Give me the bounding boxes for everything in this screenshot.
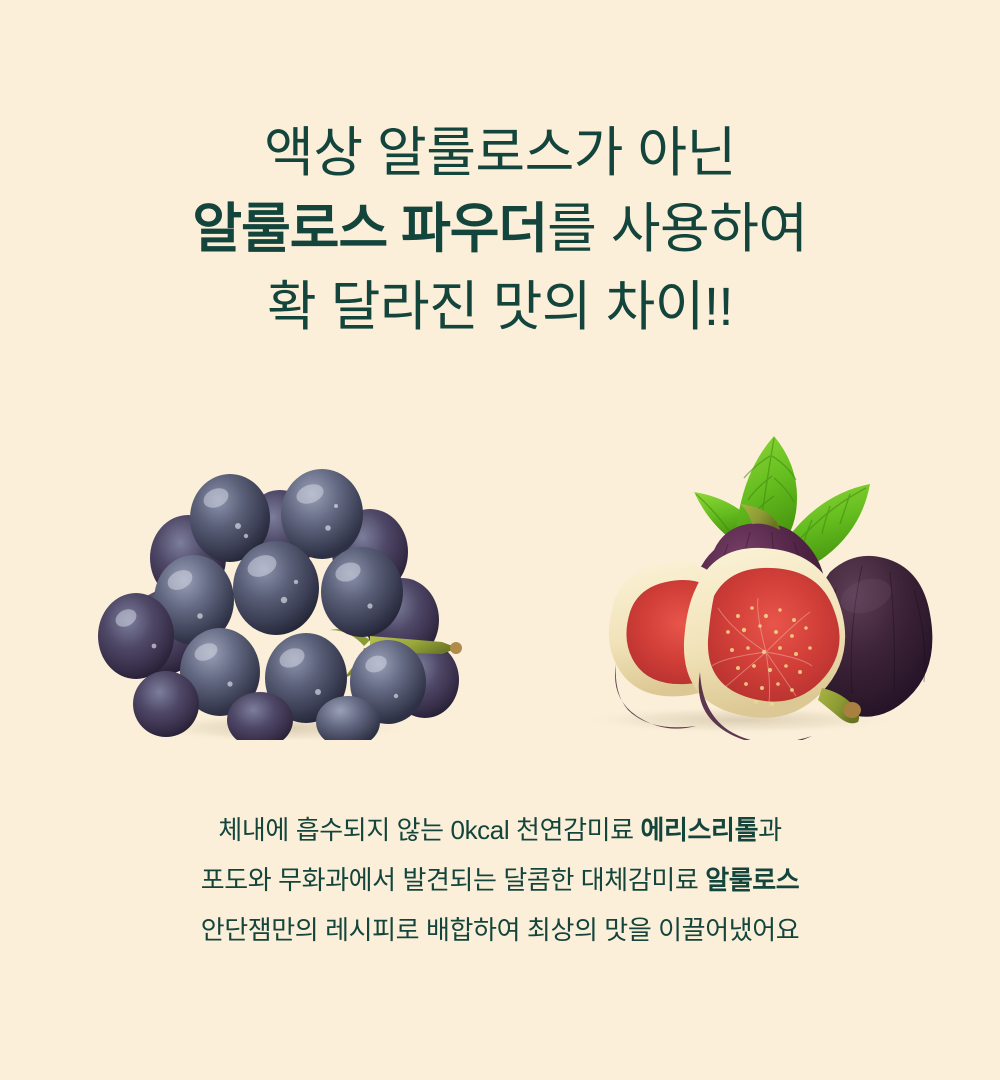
description-line-1: 체내에 흡수되지 않는 0kcal 천연감미료 에리스리톨과 xyxy=(0,806,1000,856)
promo-page: 액상 알룰로스가 아닌 알룰로스 파우더를 사용하여 확 달라진 맛의 차이!! xyxy=(0,0,1000,1080)
headline-line-2-emphasis: 알룰로스 파우더 xyxy=(192,199,547,259)
description-line-1-emphasis: 에리스리톨 xyxy=(640,815,758,845)
fig-fruit-image xyxy=(500,420,960,740)
description-line-3: 안단잼만의 레시피로 배합하여 최상의 맛을 이끌어냈어요 xyxy=(0,906,1000,956)
headline-block: 액상 알룰로스가 아닌 알룰로스 파우더를 사용하여 확 달라진 맛의 차이!! xyxy=(0,118,1000,343)
headline-line-2-rest: 를 사용하여 xyxy=(547,199,807,259)
description-line-1-a: 체내에 흡수되지 않는 0kcal 천연감미료 xyxy=(218,815,640,845)
description-line-1-b: 과 xyxy=(758,815,782,845)
fig-fruit-icon xyxy=(500,420,960,740)
headline-line-1: 액상 알룰로스가 아닌 xyxy=(0,118,1000,188)
grape-cluster-icon xyxy=(70,440,490,740)
description-line-2-a: 포도와 무화과에서 발견되는 달콤한 대체감미료 xyxy=(201,865,706,895)
headline-line-2: 알룰로스 파우더를 사용하여 xyxy=(0,194,1000,264)
description-block: 체내에 흡수되지 않는 0kcal 천연감미료 에리스리톨과 포도와 무화과에서… xyxy=(0,806,1000,956)
description-line-2: 포도와 무화과에서 발견되는 달콤한 대체감미료 알룰로스 xyxy=(0,856,1000,906)
headline-line-3: 확 달라진 맛의 차이!! xyxy=(0,272,1000,342)
fruit-image-row xyxy=(0,420,1000,740)
description-line-2-emphasis: 알룰로스 xyxy=(705,865,799,895)
grape-front-layer xyxy=(98,469,426,740)
grape-cluster-image xyxy=(70,440,490,740)
